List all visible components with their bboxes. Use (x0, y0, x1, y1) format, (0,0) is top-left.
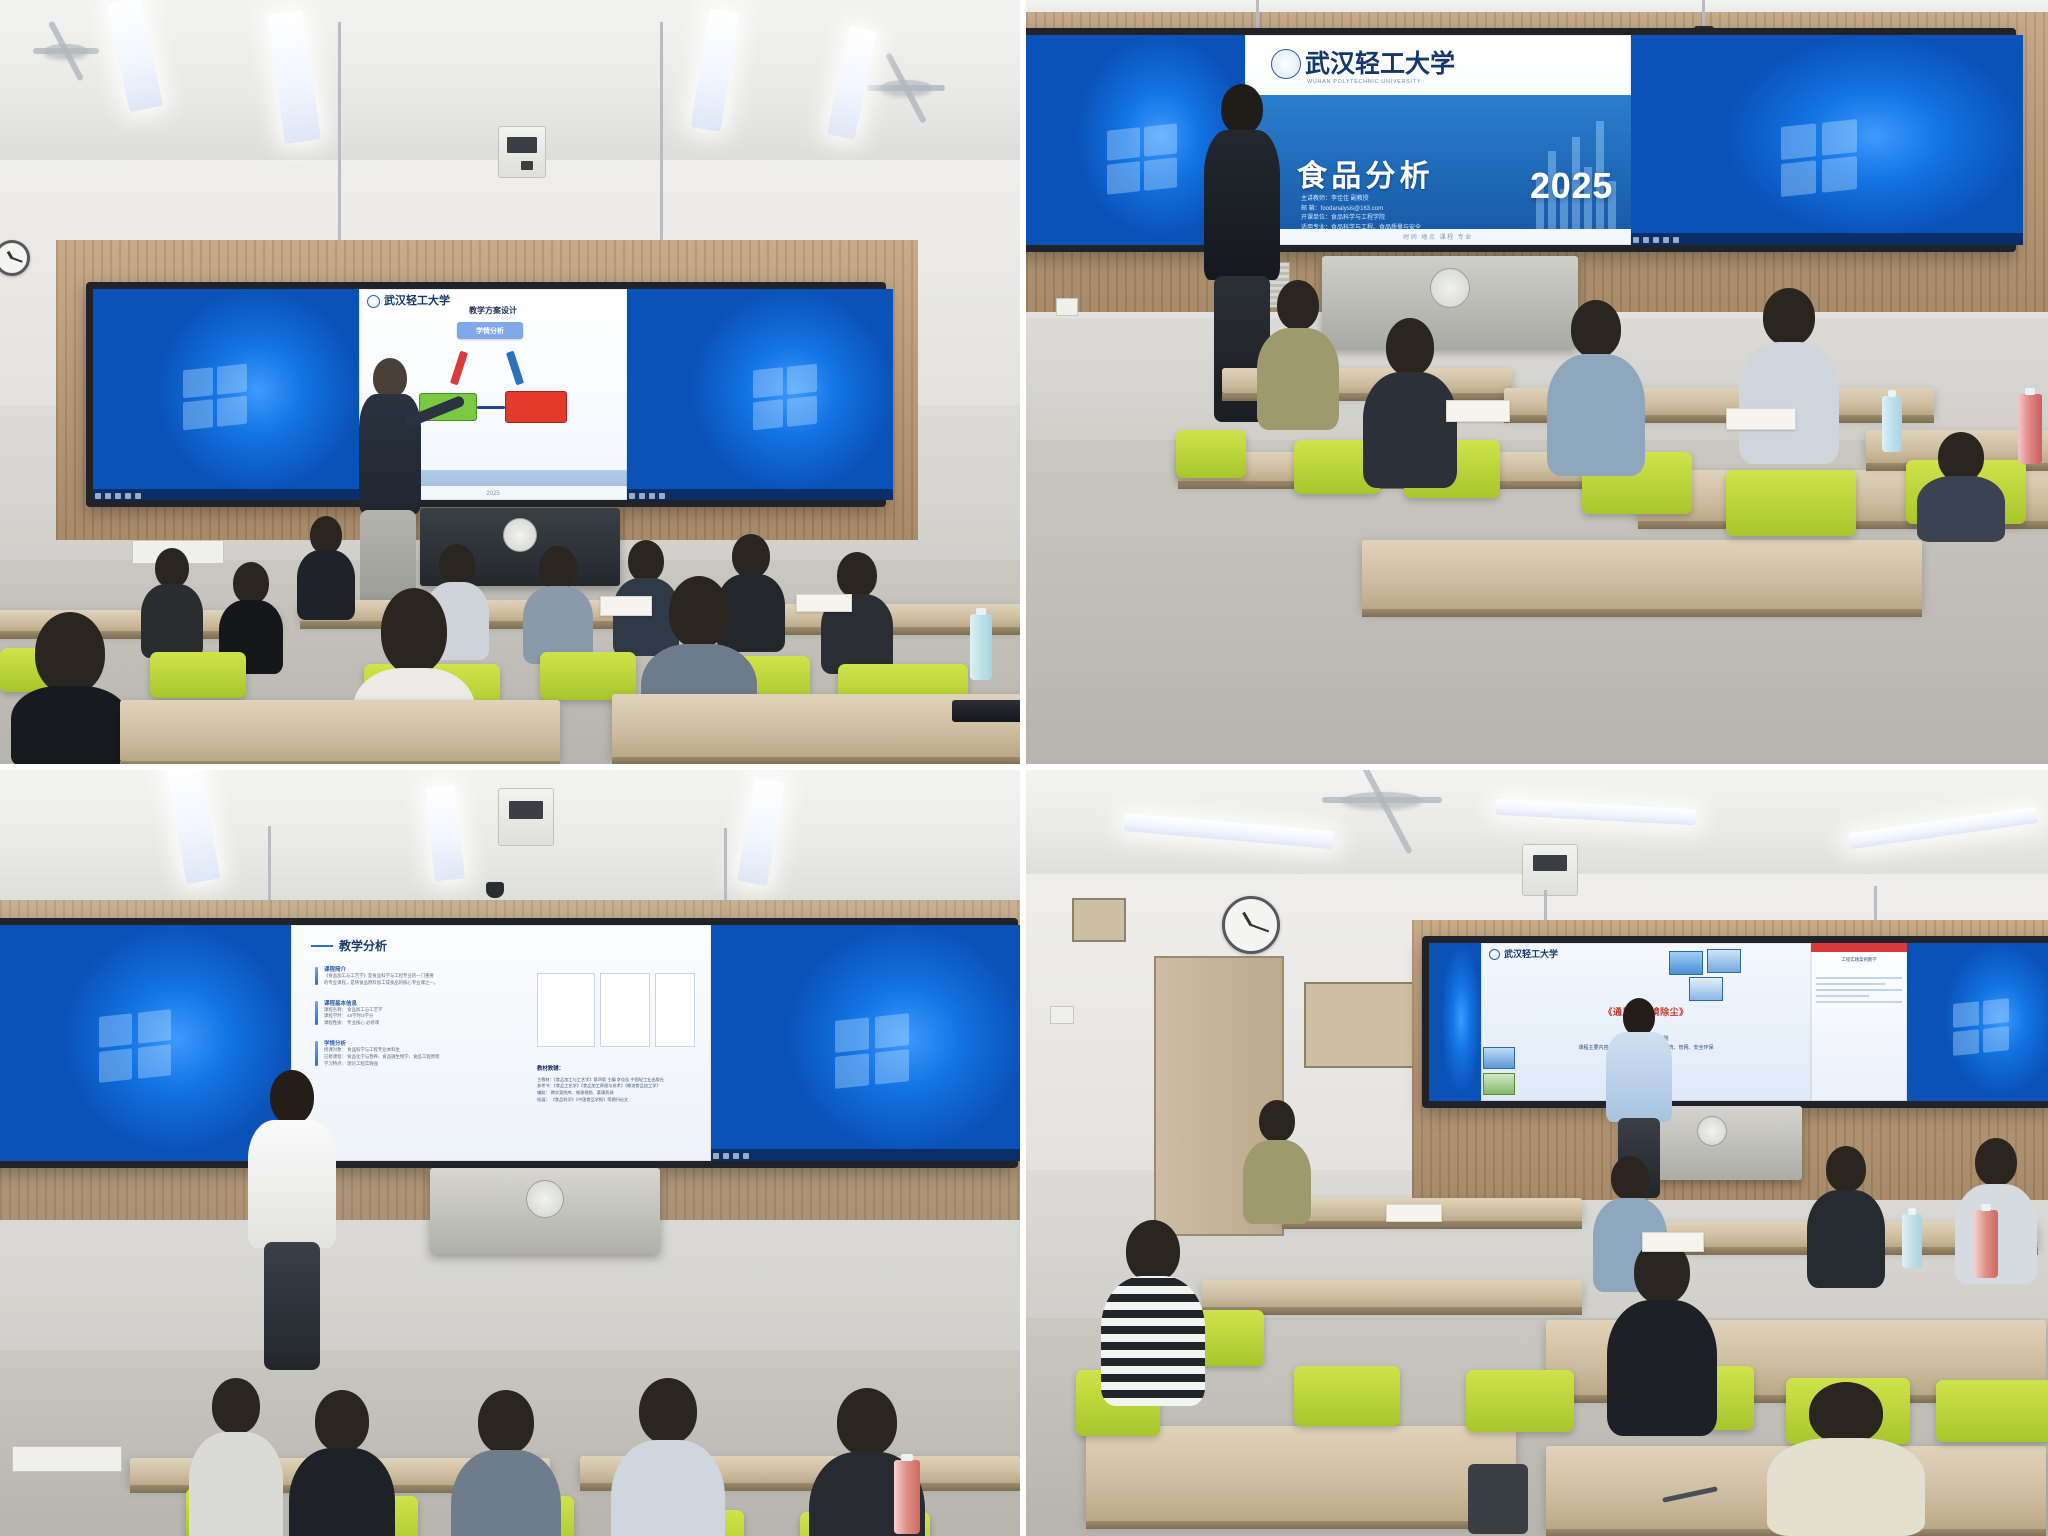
university-seal-icon (1489, 949, 1500, 960)
hero-band: 食品分析 主讲教师：李佳佳 副教授 邮 箱：foodanalysis@163.c… (1245, 95, 1631, 229)
course-meta-line: 开课单位：食品科学与工程学院 (1301, 214, 1421, 224)
block-line: 课程性质： 专业核心 必修课 (324, 1020, 511, 1027)
slide-block: 课程基本信息 课程名称： 食品加工与工艺学 课程学时： 48学时/3学分 课程性… (315, 999, 511, 1027)
attendee-body (11, 686, 129, 764)
instructor-legs (264, 1242, 320, 1370)
attendee (10, 612, 130, 764)
attendee-head (1571, 300, 1621, 358)
lectern[interactable] (430, 1168, 660, 1254)
block-subtitle: 课程基本信息 (324, 999, 511, 1007)
attendee-body (141, 584, 203, 658)
note-line: 辅助： 教学案例库、微课视频、慕课资源 (537, 1090, 705, 1097)
instructor (246, 1070, 338, 1370)
screen-share-thumbnail[interactable] (1707, 949, 1741, 973)
instructor (352, 358, 428, 608)
panel-bottom-right: 武汉轻工大学 《通风与环境除尘》 课程负责人：刘志刚 课程主要内容：通风学、除尘… (1026, 770, 2048, 1536)
taskbar[interactable] (1631, 233, 2023, 245)
attendee-body (1917, 476, 2005, 542)
water-bottle[interactable] (2018, 394, 2042, 464)
bag (1468, 1464, 1528, 1534)
projector-hanger (660, 22, 663, 274)
water-bottle[interactable] (1882, 396, 1902, 452)
instructor-head (1221, 84, 1263, 134)
panel-top-right: 武汉轻工大学 WUHAN POLYTECHNIC UNIVERSITY 食品分析… (1026, 0, 2048, 770)
attendee-head (1277, 280, 1319, 330)
attendee-head (233, 562, 269, 604)
ac-display (1533, 855, 1567, 871)
attendee (288, 1390, 396, 1536)
course-meta: 主讲教师：李佳佳 副教授 邮 箱：foodanalysis@163.com 开课… (1301, 195, 1421, 233)
attendee (450, 1390, 562, 1536)
attendee (1806, 1146, 1886, 1288)
attendee-head (837, 1388, 897, 1456)
ac-control-panel[interactable] (1522, 844, 1578, 896)
university-logo: 武汉轻工大学 (1271, 49, 1455, 79)
school-emblem-icon (526, 1180, 564, 1218)
power-outlet[interactable] (1050, 1006, 1074, 1024)
university-name: 武汉轻工大学 (1305, 52, 1455, 77)
instructor-body (1204, 130, 1280, 280)
taskbar[interactable] (627, 489, 893, 500)
ceiling-fan (1342, 792, 1422, 808)
ac-display (509, 801, 543, 819)
attendee (610, 1378, 726, 1536)
handout[interactable] (1726, 408, 1796, 430)
school-emblem-icon (1430, 268, 1470, 308)
chair (540, 652, 636, 700)
classroom-photo-2: 武汉轻工大学 WUHAN POLYTECHNIC UNIVERSITY 食品分析… (1026, 0, 2048, 764)
instructor-body (359, 394, 421, 514)
side-panel-header (1811, 943, 1907, 952)
attendee-head (381, 588, 447, 674)
university-seal-icon (1271, 49, 1301, 79)
slide-note: 教材教辅： 主教材：《食品加工与工艺学》第四版 主编 李佳佳 中国轻工业出版社 … (537, 1065, 705, 1104)
attendee-head (35, 612, 105, 694)
attendee (1242, 1100, 1312, 1224)
interactive-whiteboard[interactable]: 武汉轻工大学 《通风与环境除尘》 课程负责人：刘志刚 课程主要内容：通风学、除尘… (1422, 936, 2048, 1108)
school-emblem-icon (1697, 1116, 1727, 1146)
attendee (1546, 300, 1646, 476)
slide-block: 课程简介 《食品加工与工艺学》是食品科学与工程专业的一门重要 的专业课程，是将食… (315, 965, 511, 987)
attendee-head (439, 544, 475, 586)
instructor-head (1623, 998, 1655, 1036)
attendee (1256, 280, 1340, 430)
water-bottle[interactable] (970, 614, 992, 680)
arrow-left (450, 351, 468, 386)
water-bottle[interactable] (894, 1460, 920, 1534)
screen-share-thumbnail[interactable] (1483, 1047, 1515, 1069)
desk (1202, 1280, 1582, 1308)
laptop[interactable] (952, 700, 1020, 722)
handout[interactable] (796, 594, 852, 612)
chair (1176, 430, 1246, 478)
windows-logo-icon (99, 1009, 171, 1083)
attendee-body (1101, 1276, 1205, 1406)
attendee (1766, 1382, 1926, 1536)
attendee-head (1809, 1382, 1883, 1444)
windows-logo-icon (1107, 123, 1177, 194)
ac-display (507, 137, 537, 153)
photo-collage: 武汉轻工大学 教学方案设计 学情分析 2025 (0, 0, 2048, 1536)
attendee-body (451, 1450, 561, 1536)
desk-front (1362, 540, 1922, 610)
attendee-head (1975, 1138, 2017, 1186)
attendee-head (669, 576, 729, 648)
attendee-body (297, 550, 355, 620)
slide-footer: 时间 地点 课程 专业 (1245, 232, 1631, 241)
attendee (140, 548, 204, 658)
screen-right[interactable] (711, 925, 1020, 1161)
course-year: 2025 (1530, 165, 1613, 207)
attendee-body (289, 1448, 395, 1536)
course-meta-line: 主讲教师：李佳佳 副教授 (1301, 195, 1421, 205)
attendee-body (1257, 328, 1339, 430)
block-line: 《食品加工与工艺学》是食品科学与工程专业的一门重要 (324, 973, 511, 980)
attendee-body (1363, 372, 1457, 488)
block-subtitle: 学情分析 (324, 1039, 511, 1047)
course-meta-line: 邮 箱：foodanalysis@163.com (1301, 205, 1421, 215)
windows-logo-icon (835, 1013, 909, 1089)
classroom-photo-4: 武汉轻工大学 《通风与环境除尘》 课程负责人：刘志刚 课程主要内容：通风学、除尘… (1026, 770, 2048, 1536)
attendee-head (155, 548, 189, 588)
screen-right[interactable] (627, 289, 893, 500)
taskbar[interactable] (93, 489, 359, 500)
university-name: 武汉轻工大学 (1504, 950, 1558, 959)
handout[interactable] (1446, 400, 1510, 422)
attendee-head (310, 516, 342, 554)
instructor-body (248, 1120, 336, 1248)
instructor-head (270, 1070, 314, 1124)
side-panel-lines (1816, 977, 1902, 1007)
power-outlet[interactable] (1056, 298, 1078, 316)
attendee-head (539, 546, 577, 590)
attendee-head (315, 1390, 369, 1452)
slide-block: 学情分析 授课对象： 食品科学与工程专业本科生 已修课程： 食品化学与营养、食品… (315, 1039, 511, 1067)
textbook-thumb (655, 973, 695, 1047)
slide-title: 教学方案设计 (359, 305, 627, 316)
classroom-photo-1: 武汉轻工大学 教学方案设计 学情分析 2025 (0, 0, 1020, 764)
attendee-head (1259, 1100, 1295, 1142)
attendee-body (1547, 354, 1645, 476)
interactive-whiteboard[interactable]: 武汉轻工大学 教学方案设计 学情分析 2025 (86, 282, 886, 507)
attendee-body (611, 1440, 725, 1536)
ceiling-fan (880, 80, 932, 95)
attendee-body (1767, 1438, 1925, 1536)
attendee-head (1126, 1220, 1180, 1282)
university-name-sub: WUHAN POLYTECHNIC UNIVERSITY (1307, 79, 1421, 85)
screen-right[interactable] (1631, 35, 2023, 245)
attendee (1362, 318, 1458, 488)
screen-right[interactable] (1907, 943, 2048, 1101)
screen-left[interactable] (1429, 943, 1481, 1101)
notice-board (1072, 898, 1126, 942)
attendee-head (732, 534, 770, 578)
attendee (522, 546, 594, 664)
arrow-right (506, 351, 524, 386)
slide-heading-text: 教学分析 (339, 937, 387, 954)
attendee (1738, 288, 1840, 464)
screen-share-thumbnail[interactable] (1669, 951, 1703, 975)
textbook-thumb (600, 973, 650, 1047)
instructor-body (1606, 1032, 1672, 1122)
heading-rule (311, 945, 333, 947)
attendee (188, 1378, 284, 1536)
screen-share-thumbnail[interactable] (1689, 977, 1723, 1001)
water-bottle[interactable] (1974, 1210, 1998, 1278)
block-line: 学习特点： 理论工程实践强 (324, 1061, 511, 1068)
block-line: 的专业课程，是将食品原料加工成食品的核心专业课之一。 (324, 980, 511, 987)
attendee-head (837, 552, 877, 598)
textbook-thumbnails (537, 973, 695, 1047)
attendee (1606, 1240, 1718, 1436)
chair (1936, 1380, 2048, 1442)
attendee-head (639, 1378, 697, 1444)
note-title: 教材教辅： (537, 1065, 705, 1074)
taskbar[interactable] (711, 1149, 1020, 1161)
handout[interactable] (1642, 1232, 1704, 1252)
ac-indicator (521, 161, 533, 170)
handout[interactable] (600, 596, 652, 616)
side-panel-title: 工程实践案例教学 (1815, 957, 1903, 964)
attendee (1100, 1220, 1206, 1406)
interactive-whiteboard[interactable]: 教学分析 课程简介 《食品加工与工艺学》是食品科学与工程专业的一门重要 的专业课… (0, 918, 1018, 1168)
attendee (296, 516, 356, 620)
attendee-head (1386, 318, 1434, 376)
screen-left[interactable] (93, 289, 359, 500)
presentation-slide[interactable]: 武汉轻工大学 WUHAN POLYTECHNIC UNIVERSITY 食品分析… (1245, 35, 1631, 245)
interactive-whiteboard[interactable]: 武汉轻工大学 WUHAN POLYTECHNIC UNIVERSITY 食品分析… (1026, 28, 2016, 252)
attendee (820, 552, 894, 674)
attendee-body (189, 1432, 283, 1536)
block-line: 授课对象： 食品科学与工程专业本科生 (324, 1047, 511, 1054)
windows-logo-icon (183, 364, 247, 431)
attendee-head (212, 1378, 260, 1434)
ceiling-fan (44, 44, 88, 58)
chair (1726, 470, 1856, 536)
desk-front (120, 700, 560, 762)
instructor-head (373, 358, 407, 398)
water-bottle[interactable] (1902, 1214, 1922, 1268)
attendee-head (1611, 1156, 1649, 1200)
course-title: 食品分析 (1297, 151, 1434, 195)
handout[interactable] (1386, 1204, 1442, 1222)
textbook-thumb (537, 973, 595, 1047)
ac-control-panel[interactable] (498, 788, 554, 846)
presentation-slide[interactable]: 教学分析 课程简介 《食品加工与工艺学》是食品科学与工程专业的一门重要 的专业课… (291, 925, 711, 1161)
block-line: 已修课程： 食品化学与营养、食品微生物学、食品工程原理 (324, 1054, 511, 1061)
note-line: 拓展： 《食品科学》《中国食品学报》等期刊论文 (537, 1097, 705, 1104)
side-panel[interactable]: 工程实践案例教学 (1811, 943, 1907, 1101)
notice-board (1304, 982, 1414, 1068)
block-subtitle: 课程简介 (324, 965, 511, 973)
desk-front (1086, 1426, 1516, 1522)
windows-logo-icon (753, 364, 817, 431)
attendee-head (1938, 432, 1984, 482)
attendee-head (1763, 288, 1815, 346)
connector-line (477, 406, 505, 409)
chair (150, 652, 246, 698)
chair (1294, 1366, 1400, 1426)
attendee-body (1607, 1300, 1717, 1436)
projector-hanger (338, 22, 341, 267)
attendee-body (1739, 342, 1839, 464)
windows-logo-icon (1781, 119, 1857, 197)
screen-share-thumbnail[interactable] (1483, 1073, 1515, 1095)
wall-clock (1222, 896, 1280, 954)
objective-box-right (505, 391, 567, 423)
attendee-body (1243, 1140, 1311, 1224)
chair (1466, 1370, 1574, 1432)
attendee-head (1826, 1146, 1866, 1192)
panel-top-left: 武汉轻工大学 教学方案设计 学情分析 2025 (0, 0, 1026, 770)
panel-bottom-left: 教学分析 课程简介 《食品加工与工艺学》是食品科学与工程专业的一门重要 的专业课… (0, 770, 1026, 1536)
camera (486, 882, 504, 898)
slide-pill: 学情分析 (457, 322, 523, 339)
attendee (1916, 432, 2006, 542)
ac-control-panel[interactable] (498, 126, 546, 178)
classroom-photo-3: 教学分析 课程简介 《食品加工与工艺学》是食品科学与工程专业的一门重要 的专业课… (0, 770, 1020, 1536)
power-outlet-strip[interactable] (12, 1446, 122, 1472)
slide-left-column: 课程简介 《食品加工与工艺学》是食品科学与工程专业的一门重要 的专业课程，是将食… (315, 965, 511, 1074)
slide-heading: 教学分析 (311, 937, 387, 954)
attendee-body (1807, 1190, 1885, 1288)
windows-logo-icon (1953, 998, 2009, 1056)
attendee-head (478, 1390, 534, 1454)
university-logo: 武汉轻工大学 (1489, 949, 1558, 960)
